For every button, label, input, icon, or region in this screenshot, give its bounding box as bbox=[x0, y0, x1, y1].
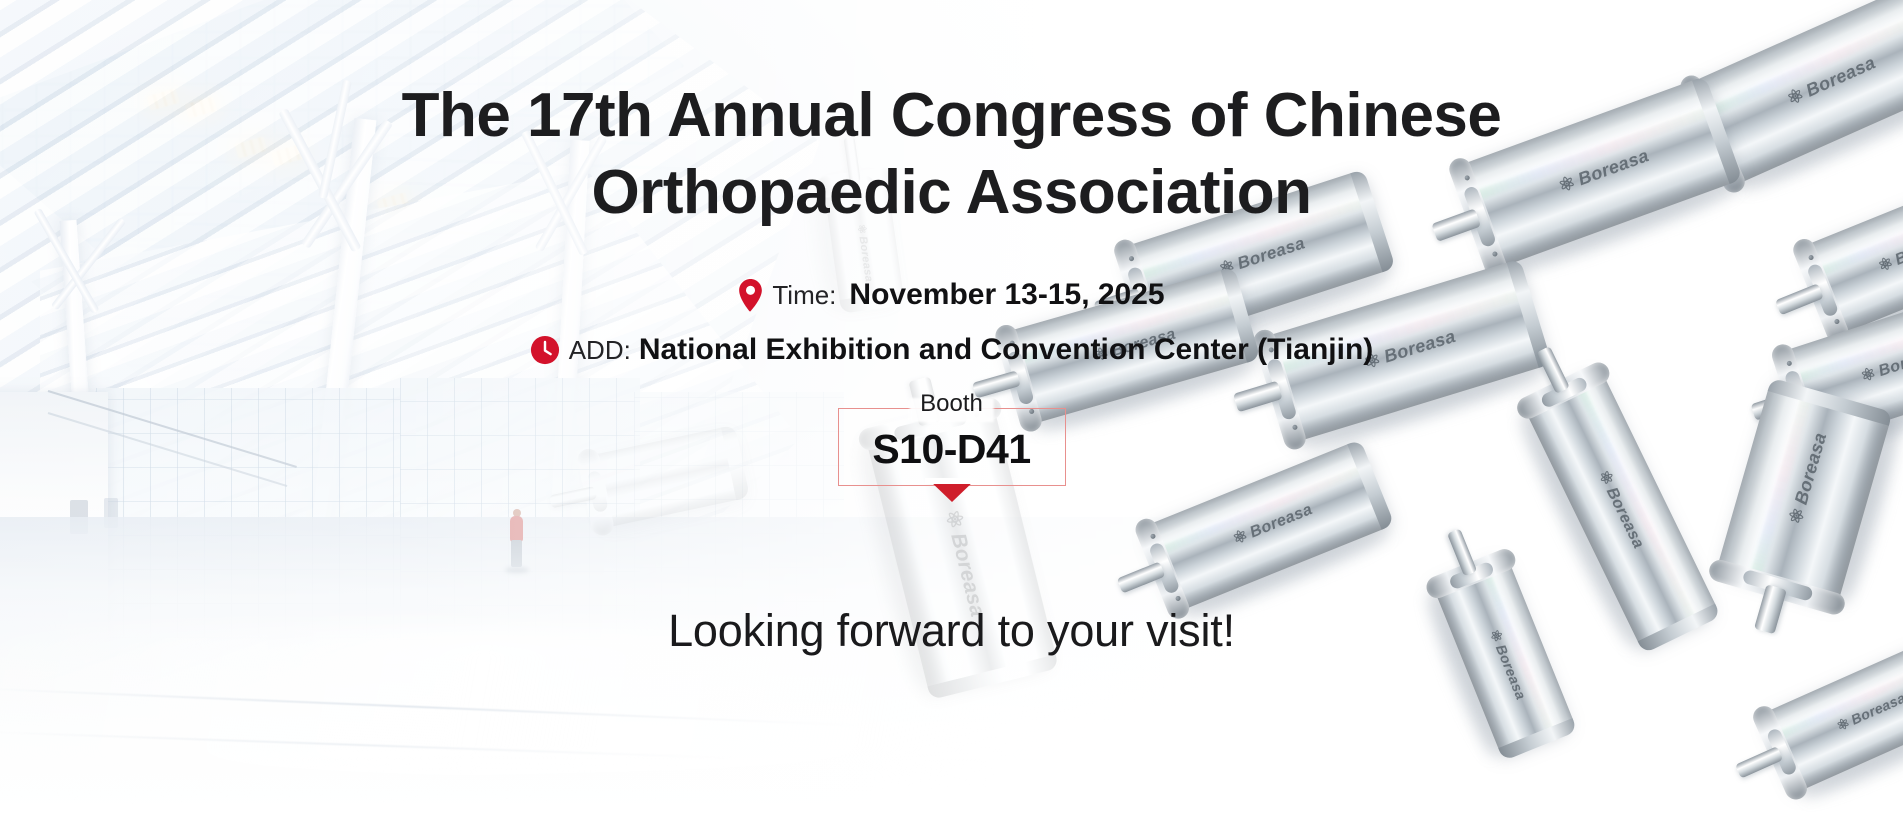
booth-arrow-icon bbox=[929, 480, 975, 502]
title-line-1: The 17th Annual Congress of Chinese bbox=[402, 81, 1502, 150]
event-address-label: ADD: bbox=[569, 335, 631, 366]
booth-code: S10-D41 bbox=[839, 429, 1065, 470]
page-title: The 17th Annual Congress of Chinese Orth… bbox=[0, 78, 1903, 232]
booth-caption: Booth bbox=[911, 392, 992, 416]
booth-frame: Booth S10-D41 bbox=[838, 408, 1066, 486]
booth-badge: Booth S10-D41 bbox=[838, 408, 1066, 486]
clock-icon bbox=[530, 335, 560, 365]
event-time-row: Time: November 13-15, 2025 bbox=[0, 278, 1903, 312]
event-time-label: Time: bbox=[772, 280, 836, 311]
map-pin-icon bbox=[738, 279, 763, 312]
banner-content: The 17th Annual Congress of Chinese Orth… bbox=[0, 0, 1903, 817]
title-line-2: Orthopaedic Association bbox=[170, 155, 1733, 232]
event-address-value: National Exhibition and Convention Cente… bbox=[639, 333, 1373, 367]
event-address-row: ADD: National Exhibition and Convention … bbox=[0, 333, 1903, 367]
tagline: Looking forward to your visit! bbox=[0, 605, 1903, 657]
exhibition-banner: ⚛Boreasa ⚛Boreasa ⚛Boreasa bbox=[0, 0, 1903, 817]
event-time-value: November 13-15, 2025 bbox=[849, 278, 1164, 312]
